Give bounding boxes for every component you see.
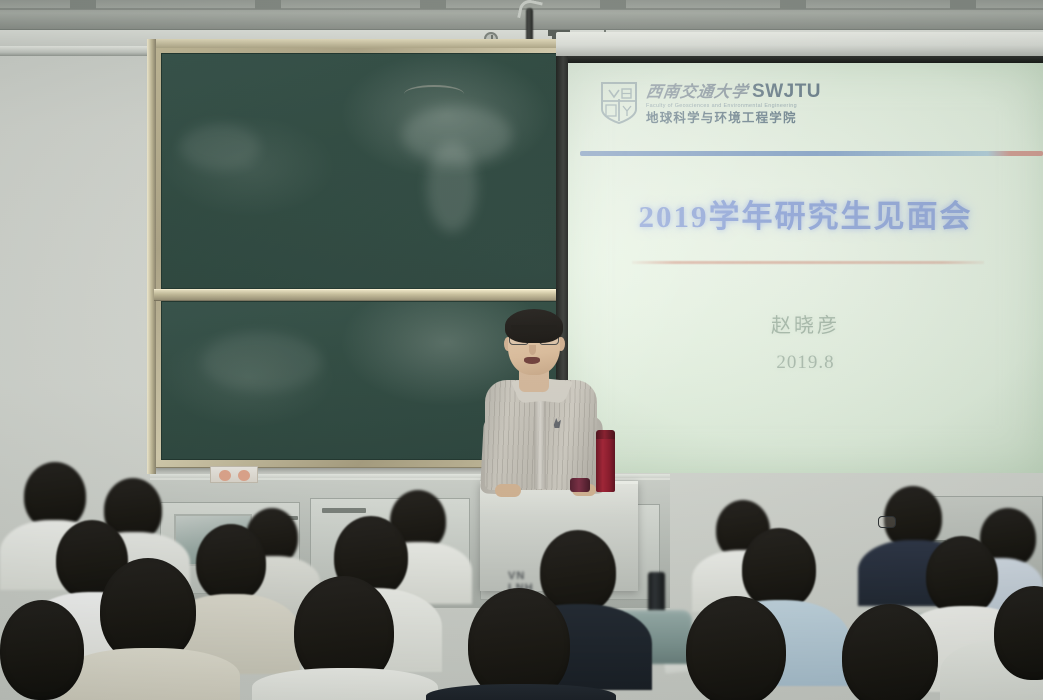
chalk-smudge [180, 124, 260, 170]
ceiling-bracket [70, 0, 96, 9]
slide-logo-line1: 西南交通大学 SWJTU [646, 82, 821, 101]
faculty-name-cn: 地球科学与环境工程学院 [646, 112, 821, 125]
slide-date: 2019.8 [568, 352, 1043, 374]
ceiling-bracket [600, 0, 626, 9]
board-left-trim [147, 39, 156, 474]
audience-glasses-icon [878, 516, 896, 528]
box-graphic [238, 470, 250, 481]
board-top-cap [147, 39, 571, 48]
ceiling-bracket [420, 0, 446, 9]
projector-screen-housing [556, 32, 1043, 58]
university-abbrev: SWJTU [752, 82, 821, 101]
cabinet-slot [322, 508, 366, 513]
slide-logo-text: 西南交通大学 SWJTU Faculty of Geosciences and … [646, 82, 821, 125]
audience-head [842, 604, 938, 700]
audience-head [686, 596, 786, 700]
presenter-hair [505, 309, 563, 343]
chalk-smudge [427, 142, 477, 232]
presenter-mouth [524, 357, 540, 364]
ceiling-bracket [950, 0, 976, 9]
audience-head [926, 536, 998, 616]
ceiling-bracket [780, 0, 806, 9]
audience-shoulders [426, 684, 616, 700]
thermos-cap [596, 430, 615, 439]
audience-shoulders [60, 648, 240, 700]
slide-header-rule [580, 151, 1043, 156]
faculty-name-en: Faculty of Geosciences and Environmental… [646, 104, 821, 109]
audience-head [0, 600, 84, 700]
university-name-cn: 西南交通大学 [645, 85, 749, 101]
small-box-on-ledge [210, 466, 258, 483]
slide-presenter-name: 赵晓彦 [568, 309, 1043, 338]
slide-logo: 西南交通大学 SWJTU Faculty of Geosciences and … [600, 81, 821, 125]
university-shield-crest-icon [600, 81, 638, 125]
board-panel-upper [161, 53, 557, 289]
lecture-hall-photo: 西南交通大学 SWJTU Faculty of Geosciences and … [0, 0, 1043, 700]
audience-head [742, 528, 816, 610]
red-thermos [596, 436, 615, 492]
dark-red-mug [570, 478, 590, 492]
presenter-torso [485, 380, 597, 490]
slide-title-underline [632, 261, 984, 264]
chalk-smudge [202, 332, 322, 392]
projection-screen: 西南交通大学 SWJTU Faculty of Geosciences and … [568, 63, 1043, 473]
ceiling-bracket [255, 0, 281, 9]
presenter-hand-left [495, 484, 521, 497]
audience-head [196, 524, 266, 602]
slide-title: 2019学年研究生见面会 [568, 191, 1043, 236]
chalk-tray-rail [154, 289, 564, 301]
box-graphic [219, 470, 231, 481]
audience-shoulders [252, 668, 438, 700]
presenter-nose [529, 345, 536, 355]
